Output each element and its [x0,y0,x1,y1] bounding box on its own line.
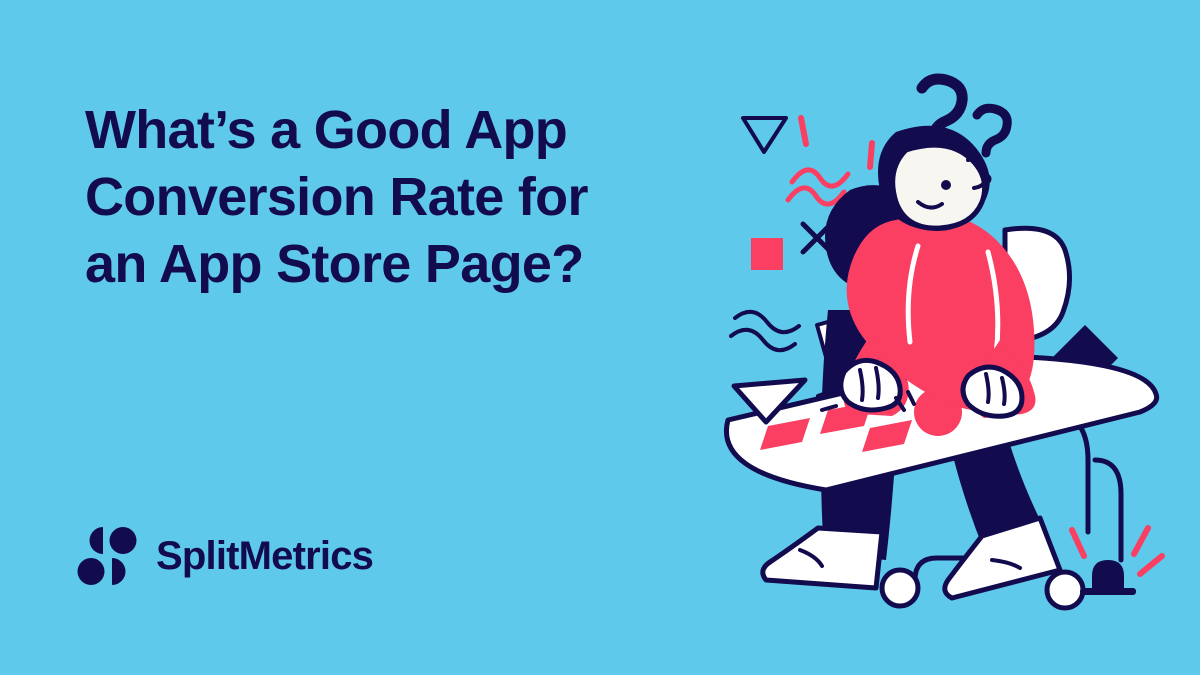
headline-line-1: What’s a Good App [85,97,645,164]
headline-line-3: an App Store Page? [85,231,645,298]
pink-squiggle-lower-icon [788,188,844,204]
hand-right [963,367,1022,416]
page-title: What’s a Good App Conversion Rate for an… [85,97,645,298]
chair-wheel-right [1047,572,1083,608]
pink-square-icon [751,238,783,270]
splitmetrics-logo: SplitMetrics [76,525,373,587]
hero-illustration [700,40,1200,620]
pink-dash-short-icon [801,118,806,144]
pink-dash-long-icon [870,143,872,167]
shoe-left [763,528,882,588]
pink-squiggle-upper-icon [792,170,848,186]
chair-wheel-left [882,570,918,606]
shoe-right [945,518,1060,598]
headline-line-2: Conversion Rate for [85,164,645,231]
splitmetrics-logo-mark-icon [76,525,138,587]
triangle-outline-icon [743,118,786,152]
splitmetrics-wordmark: SplitMetrics [156,536,373,576]
blog-cover-canvas: What’s a Good App Conversion Rate for an… [0,0,1200,675]
hand-left [841,360,900,410]
eye [941,180,951,190]
